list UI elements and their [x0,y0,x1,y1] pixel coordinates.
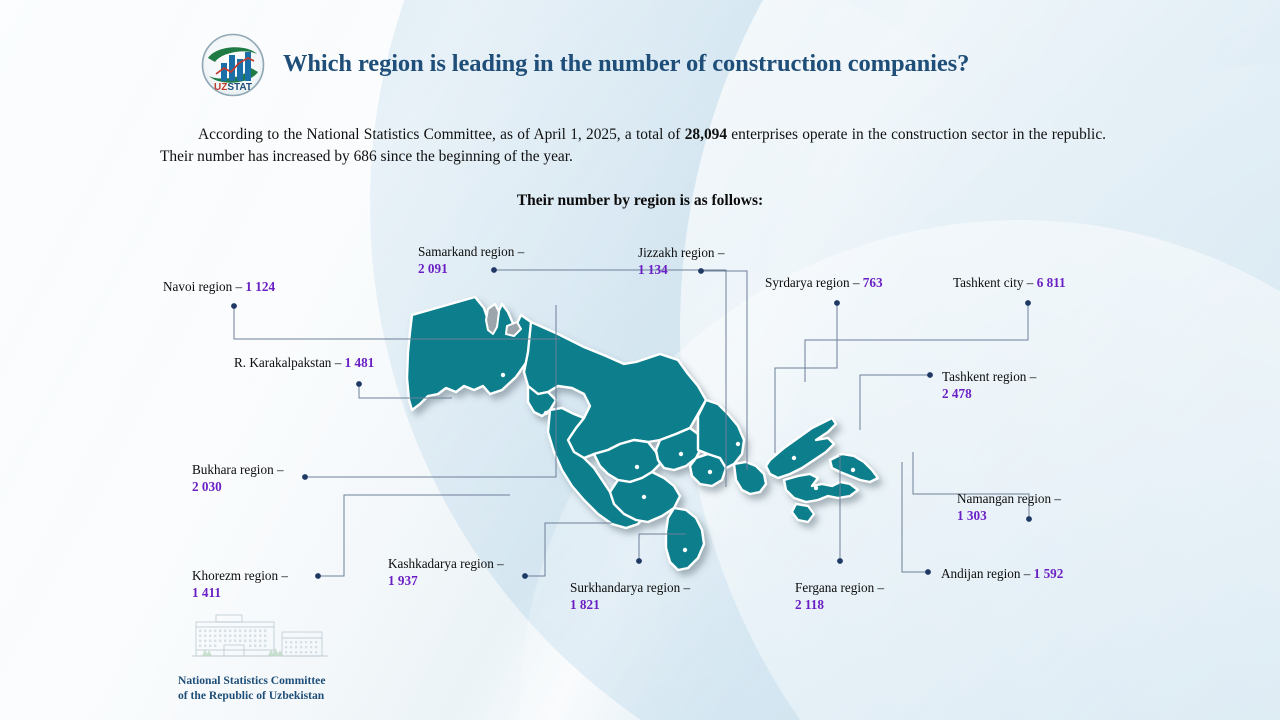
region-label-dash-andijan: – [1020,566,1033,581]
region-label-karakalpakstan: R. Karakalpakstan – 1 481 [234,354,374,371]
region-label-value-fergana: 2 118 [795,597,824,612]
region-label-name-karakalpakstan: R. Karakalpakstan [234,355,331,370]
region-label-name-tashkent-city: Tashkent city [953,275,1024,290]
region-label-jizzakh: Jizzakh region –1 134 [638,244,724,278]
region-label-value-jizzakh: 1 134 [638,262,668,277]
region-label-dash-karakalpakstan: – [331,355,344,370]
slide-canvas: UZSTAT Which region is leading in the nu… [0,0,1280,720]
region-label-khorezm: Khorezm region –1 411 [192,567,288,601]
region-label-value-syrdarya: 763 [863,275,883,290]
region-label-value-namangan: 1 303 [957,508,987,523]
region-label-tashkent-city: Tashkent city – 6 811 [953,274,1066,291]
region-label-dash-syrdarya: – [850,275,863,290]
region-label-navoi: Navoi region – 1 124 [163,278,275,295]
region-label-name-samarkand: Samarkand region – [418,244,524,259]
region-label-value-tashkent-region: 2 478 [942,386,972,401]
footer-line-1: National Statistics Committee [178,673,325,688]
footer-line-2: of the Republic of Uzbekistan [178,688,325,703]
region-label-andijan: Andijan region – 1 592 [941,565,1063,582]
committee-building-illustration [186,612,334,670]
region-label-namangan: Namangan region –1 303 [957,490,1061,524]
region-label-dash-tashkent-city: – [1024,275,1037,290]
region-label-name-tashkent-region: Tashkent region – [942,369,1036,384]
region-label-dash-navoi: – [232,279,245,294]
region-label-name-surkhandarya: Surkhandarya region – [570,580,690,595]
region-label-value-tashkent-city: 6 811 [1037,275,1066,290]
region-label-value-samarkand: 2 091 [418,261,448,276]
region-label-kashkadarya: Kashkadarya region –1 937 [388,555,504,589]
footer-organisation: National Statistics Committee of the Rep… [178,673,325,703]
region-label-name-bukhara: Bukhara region – [192,462,284,477]
region-label-value-andijan: 1 592 [1034,566,1064,581]
region-label-value-karakalpakstan: 1 481 [345,355,375,370]
region-label-bukhara: Bukhara region –2 030 [192,461,284,495]
region-label-name-jizzakh: Jizzakh region – [638,245,724,260]
region-label-tashkent-region: Tashkent region –2 478 [942,368,1036,402]
region-label-samarkand: Samarkand region –2 091 [418,243,524,277]
region-label-name-andijan: Andijan region [941,566,1020,581]
region-label-name-khorezm: Khorezm region – [192,568,288,583]
region-label-value-kashkadarya: 1 937 [388,573,418,588]
region-label-surkhandarya: Surkhandarya region –1 821 [570,579,690,613]
region-label-value-bukhara: 2 030 [192,479,222,494]
region-label-value-khorezm: 1 411 [192,585,221,600]
region-label-value-navoi: 1 124 [245,279,275,294]
region-label-name-kashkadarya: Kashkadarya region – [388,556,504,571]
region-label-syrdarya: Syrdarya region – 763 [765,274,883,291]
region-label-name-fergana: Fergana region – [795,580,884,595]
region-label-name-navoi: Navoi region [163,279,232,294]
region-label-fergana: Fergana region –2 118 [795,579,884,613]
region-label-name-namangan: Namangan region – [957,491,1061,506]
region-label-name-syrdarya: Syrdarya region [765,275,850,290]
region-label-value-surkhandarya: 1 821 [570,597,600,612]
